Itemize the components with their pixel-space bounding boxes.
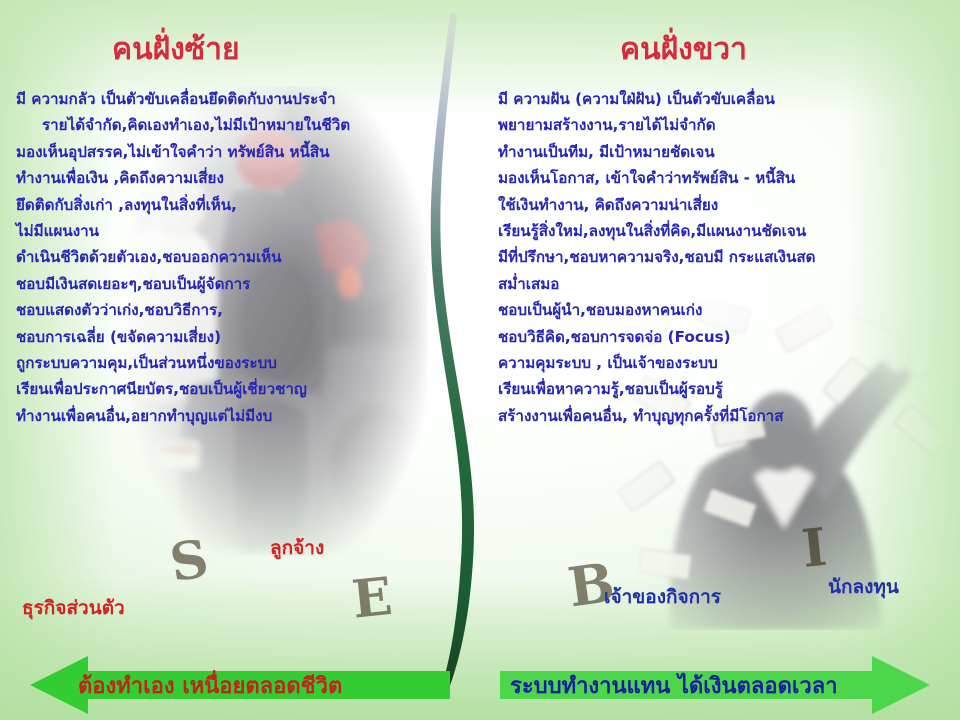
left-line: ดำเนินชีวิตด้วยตัวเอง,ชอบออกความเห็น [16, 244, 350, 270]
right-line: สม่ำเสมอ [498, 271, 815, 297]
left-line: มองเห็นอุปสรรค,ไม่เข้าใจคำว่า ทรัพย์สิน … [16, 139, 350, 165]
quadrant-letter-i: I [797, 519, 827, 573]
right-column-body: มี ความฝัน (ความใฝ่ฝัน) เป็นตัวขับเคลื่อ… [498, 86, 815, 429]
left-line: ไม่มีแผนงาน [16, 218, 350, 244]
right-line: เรียนรู้สิ่งใหม่,ลงทุนในสิ่งที่คิด,มีแผน… [498, 218, 815, 244]
right-line: พยายามสร้างงาน,รายได้ไม่จำกัด [498, 112, 815, 138]
quadrant-caption-e: ลูกจ้าง [270, 533, 324, 563]
right-line: ใช้เงินทำงาน, คิดถึงความน่าเสี่ยง [498, 192, 815, 218]
left-line: ทำงานเพื่อคนอื่น,อยากทำบุญแต่ไม่มีงบ [16, 403, 350, 429]
slide-canvas: คนฝั่งซ้าย มี ความกลัว เป็นตัวขับเคลื่อน… [0, 0, 960, 720]
left-line: ชอบมีเงินสดเยอะๆ,ชอบเป็นผู้จัดการ [16, 271, 350, 297]
right-line: ความคุมระบบ , เป็นเจ้าของระบบ [498, 350, 815, 376]
left-line: ชอบแสดงตัวว่าเก่ง,ชอบวิธีการ, [16, 297, 350, 323]
left-line: ยึดติดกับสิ่งเก่า ,ลงทุนในสิ่งที่เห็น, [16, 192, 350, 218]
quadrant-letter-s: S [164, 530, 209, 587]
left-line: มี ความกลัว เป็นตัวขับเคลื่อนยึดติดกับงา… [16, 86, 350, 112]
left-column-title: คนฝั่งซ้าย [112, 26, 240, 73]
right-line: ชอบวิธีคิด,ชอบการจดจ่อ (Focus) [498, 324, 815, 350]
left-line: ถูกระบบความคุม,เป็นส่วนหนึ่งของระบบ [16, 350, 350, 376]
left-line: เรียนเพื่อประกาศนียบัตร,ชอบเป็นผู้เชี่ยว… [16, 376, 350, 402]
right-line: เรียนเพื่อหาความรู้,ชอบเป็นผู้รอบรู้ [498, 376, 815, 402]
right-line: สร้างงานเพื่อคนอื่น, ทำบุญทุกครั้งที่มีโ… [498, 403, 815, 429]
right-column-title: คนฝั่งขวา [620, 26, 747, 73]
left-line: รายได้จำกัด,คิดเองทำเอง,ไม่มีเป้าหมายในช… [16, 112, 350, 138]
right-line: ชอบเป็นผู้นำ,ชอบมองหาคนเก่ง [498, 297, 815, 323]
quadrant-letter-e: E [347, 568, 392, 624]
right-line: มี ความฝัน (ความใฝ่ฝัน) เป็นตัวขับเคลื่อ… [498, 86, 815, 112]
quadrant-caption-s: ธุรกิจส่วนตัว [22, 593, 125, 623]
left-line: ทำงานเพื่อเงิน ,คิดถึงความเสี่ยง [16, 165, 350, 191]
right-arrow-banner: ระบบทำงานแทน ได้เงินตลอดเวลา [500, 656, 930, 714]
right-line: มองเห็นโอกาส, เข้าใจคำว่าทรัพย์สิน - หนี… [498, 165, 815, 191]
left-line: ชอบการเฉลี่ย (ขจัดความเสี่ยง) [16, 324, 350, 350]
quadrant-caption-i: นักลงทุน [828, 572, 899, 602]
left-column-body: มี ความกลัว เป็นตัวขับเคลื่อนยึดติดกับงา… [16, 86, 350, 429]
right-line: มีที่ปรึกษา,ชอบหาความจริง,ชอบมี กระแสเงิ… [498, 244, 815, 270]
quadrant-caption-b: เจ้าของกิจการ [604, 582, 721, 612]
right-line: ทำงานเป็นทีม, มีเป้าหมายชัดเจน [498, 139, 815, 165]
left-arrow-banner: ต้องทำเอง เหนื่อยตลอดชีวิต [30, 656, 450, 714]
right-arrow-label: ระบบทำงานแทน ได้เงินตลอดเวลา [510, 656, 838, 714]
left-arrow-label: ต้องทำเอง เหนื่อยตลอดชีวิต [78, 656, 342, 714]
